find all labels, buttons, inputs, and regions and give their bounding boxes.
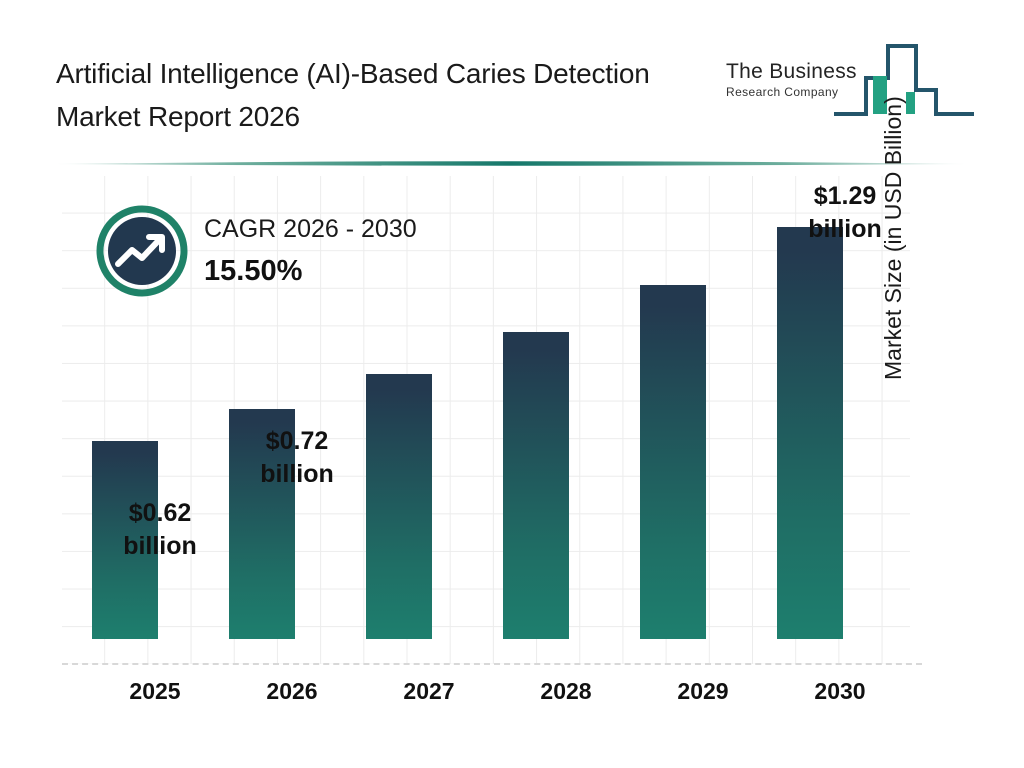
chart-plot-area xyxy=(62,176,910,664)
bar-2030[interactable] xyxy=(777,227,843,639)
bar-2029[interactable] xyxy=(640,285,706,639)
x-tick-2028: 2028 xyxy=(506,678,626,705)
company-logo: The Business Research Company xyxy=(726,38,976,124)
x-tick-2029: 2029 xyxy=(643,678,763,705)
x-tick-2026: 2026 xyxy=(232,678,352,705)
axis-baseline xyxy=(62,663,922,665)
cagr-value-label: 15.50% xyxy=(204,255,417,288)
x-tick-2027: 2027 xyxy=(369,678,489,705)
y-axis-title: Market Size (in USD Billion) xyxy=(880,0,907,380)
bar-2027[interactable] xyxy=(366,374,432,639)
bar-value-label-2026: $0.72 billion xyxy=(227,425,367,491)
bar-value-label-2025: $0.62 billion xyxy=(90,497,230,563)
cagr-period-label: CAGR 2026 - 2030 xyxy=(204,215,417,244)
header: Artificial Intelligence (AI)-Based Carie… xyxy=(0,0,1024,150)
page-title: Artificial Intelligence (AI)-Based Carie… xyxy=(56,52,696,138)
trending-up-icon xyxy=(96,205,188,297)
x-tick-2030: 2030 xyxy=(780,678,900,705)
cagr-text-block: CAGR 2026 - 2030 15.50% xyxy=(204,215,417,288)
header-divider xyxy=(56,155,966,163)
x-tick-2025: 2025 xyxy=(95,678,215,705)
bar-2028[interactable] xyxy=(503,332,569,639)
x-axis: 2025 2026 2027 2028 2029 2030 xyxy=(62,678,910,718)
